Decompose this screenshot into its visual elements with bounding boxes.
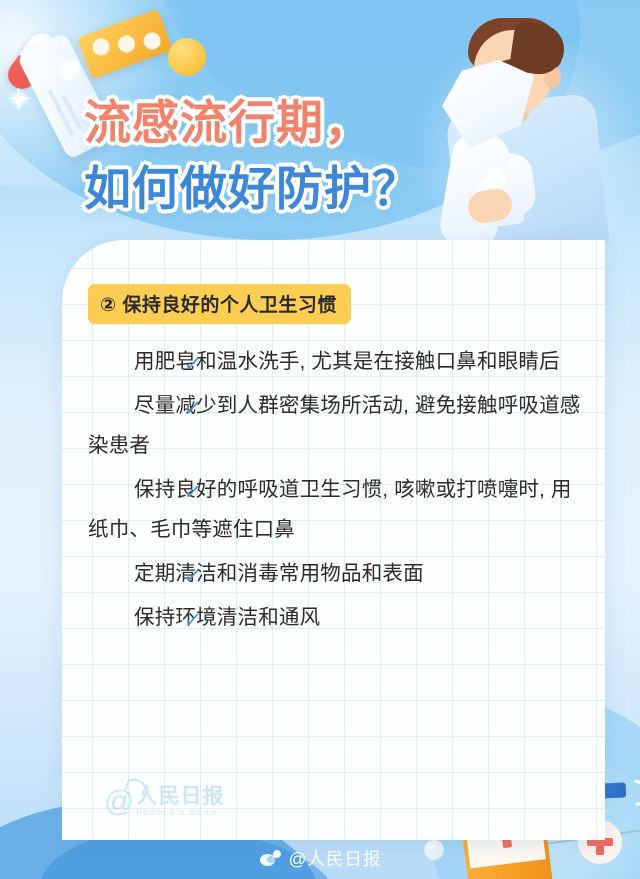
title-line-2: 如何做好防护？ [84,158,420,222]
capsule-icon [2,28,61,95]
check-icon: ✓ [135,557,204,597]
check-icon: ✓ [135,601,204,641]
check-icon: ✓ [135,345,204,385]
section-badge: ② 保持良好的个人卫生习惯 [88,284,351,324]
watermark-name-cn: 人民日报 [136,786,224,807]
poster-title: 流感流行期， 如何做好防护？ [84,92,420,222]
yellow-ball-icon [168,38,206,76]
sneezing-person-illustration [432,4,640,240]
bottom-bar: @人民日报 [0,838,640,879]
list-item: ✓ 保持良好的呼吸道卫生习惯, 咳嗽或打喷嚏时, 用纸巾、毛巾等遮住口鼻 [88,470,581,550]
sparkle-icon [8,88,30,110]
bottom-bar-handle: @人民日报 [289,846,382,871]
advice-list: ✓ 用肥皂和温水洗手, 尤其是在接触口鼻和眼睛后 ✓ 尽量减少到人群密集场所活动… [88,342,581,638]
check-icon: ✓ [135,389,204,429]
list-item: ✓ 尽量减少到人群密集场所活动, 避免接触呼吸道感染患者 [88,386,581,466]
weibo-icon [259,850,281,868]
pill-blister-icon [77,9,173,80]
medicine-box-highlight-icon [57,57,84,84]
watermark-name-en: PEOPLE'S DAILY [136,807,224,818]
list-item: ✓ 保持环境清洁和通风 [88,598,581,638]
list-item: ✓ 定期清洁和消毒常用物品和表面 [88,554,581,594]
check-icon: ✓ [135,473,204,513]
content-card: ② 保持良好的个人卫生习惯 ✓ 用肥皂和温水洗手, 尤其是在接触口鼻和眼睛后 ✓… [62,240,605,840]
list-item: ✓ 用肥皂和温水洗手, 尤其是在接触口鼻和眼睛后 [88,342,581,382]
title-line-1: 流感流行期， [84,92,420,156]
watermark: @ 人民日报 PEOPLE'S DAILY [104,786,224,818]
poster-canvas: 流感流行期， 如何做好防护？ ② 保持良好的个人卫生习惯 ✓ 用肥皂和温水洗手,… [0,0,640,879]
